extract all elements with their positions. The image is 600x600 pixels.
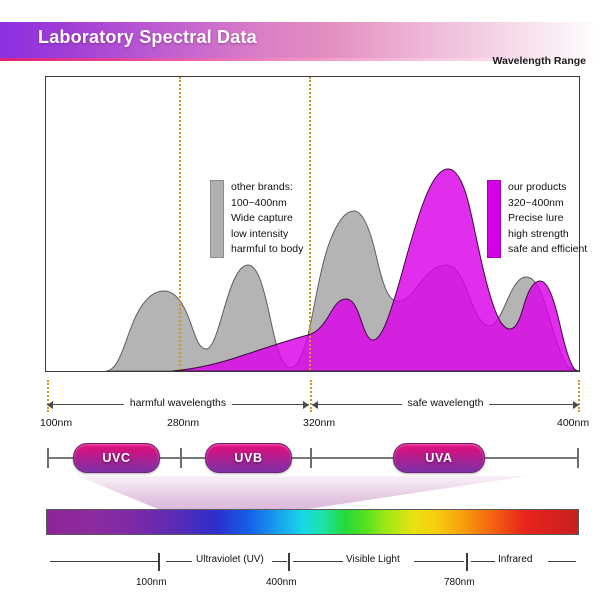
spectral-chart: UV Intensity other brands: 100~400nm Wid… [0, 70, 600, 385]
axis-line-ir-b [548, 561, 576, 562]
axis-line-uv-b [272, 561, 287, 562]
legend-swatch-magenta [487, 180, 501, 258]
band-pill-uva[interactable]: UVA [393, 443, 485, 473]
spectrum-bar [46, 509, 579, 535]
uv-band-row: UVC UVB UVA [0, 440, 600, 476]
harmful-range-arrow: harmful wavelengths [47, 399, 309, 411]
axis-tick-400nm [288, 553, 290, 571]
band-pill-uvc[interactable]: UVC [73, 443, 160, 473]
band-tick-320nm [310, 448, 312, 468]
axis-nm-100nm: 100nm [136, 577, 167, 588]
band-pill-uvb-label: UVB [234, 451, 262, 465]
arrow-head-right [303, 401, 309, 409]
wavelength-range-label: Wavelength Range [492, 55, 586, 67]
funnel-connector [0, 476, 600, 510]
legend-left-line-4: low intensity [231, 227, 303, 243]
tick-label-320nm: 320nm [303, 417, 335, 429]
legend-other-brands: other brands: 100~400nm Wide capture low… [210, 180, 303, 258]
axis-line-left [50, 561, 160, 562]
band-pill-uvc-label: UVC [102, 451, 130, 465]
legend-swatch-gray [210, 180, 224, 258]
axis-line-uv-a [166, 561, 192, 562]
legend-left-line-3: Wide capture [231, 211, 303, 227]
legend-left-line-2: 100~400nm [231, 196, 303, 212]
axis-line-vis-b [414, 561, 464, 562]
axis-line-ir-a [471, 561, 495, 562]
safe-range-label: safe wavelength [402, 397, 490, 409]
legend-right-line-1: our products [508, 180, 587, 196]
axis-line-vis-a [293, 561, 343, 562]
legend-right-line-4: high strength [508, 227, 587, 243]
safe-range-arrow: safe wavelength [312, 399, 579, 411]
tick-label-280nm: 280nm [167, 417, 199, 429]
band-tick-280nm [180, 448, 182, 468]
arrow-head-left [47, 401, 53, 409]
arrow-head-left [312, 401, 318, 409]
band-pill-uva-label: UVA [425, 451, 452, 465]
axis-tick-780nm [466, 553, 468, 571]
axis-nm-400nm: 400nm [266, 577, 297, 588]
legend-left-line-5: harmful to body [231, 242, 303, 258]
spectrum-axis: Ultraviolet (UV) Visible Light Infrared … [0, 548, 600, 592]
legend-right-line-5: safe and efficient [508, 242, 587, 258]
spectral-infographic: Laboratory Spectral Data Wavelength Rang… [0, 0, 600, 600]
legend-right-line-2: 320~400nm [508, 196, 587, 212]
segment-label-infrared: Infrared [498, 554, 532, 565]
axis-tick-100nm [158, 553, 160, 571]
segment-label-visible: Visible Light [346, 554, 400, 565]
arrow-head-right [573, 401, 579, 409]
legend-our-products: our products 320~400nm Precise lure high… [487, 180, 587, 258]
wavelength-range-row: harmful wavelengths safe wavelength 100n… [0, 380, 600, 426]
page-title: Laboratory Spectral Data [38, 27, 257, 48]
segment-label-uv: Ultraviolet (UV) [196, 554, 264, 565]
band-tick-400nm [577, 448, 579, 468]
guide-line-280nm [179, 77, 181, 372]
guide-line-320nm [309, 77, 311, 372]
band-tick-100nm [47, 448, 49, 468]
tick-label-400nm: 400nm [557, 417, 589, 429]
legend-right-line-3: Precise lure [508, 211, 587, 227]
band-pill-uvb[interactable]: UVB [205, 443, 292, 473]
tick-label-100nm: 100nm [40, 417, 72, 429]
legend-left-line-1: other brands: [231, 180, 303, 196]
axis-nm-780nm: 780nm [444, 577, 475, 588]
harmful-range-label: harmful wavelengths [124, 397, 232, 409]
